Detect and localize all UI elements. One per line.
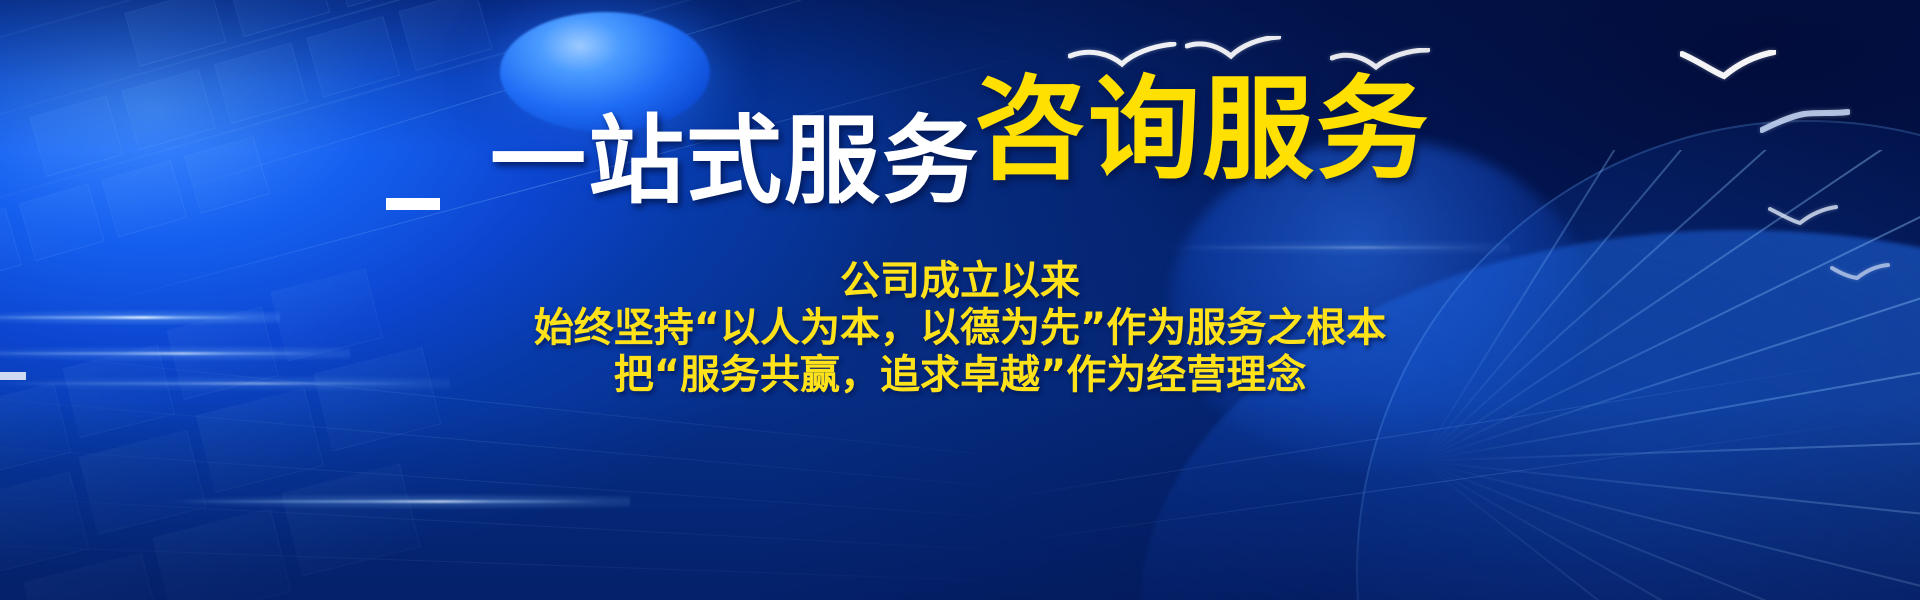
promo-banner: 一站式服务咨询服务 公司成立以来 始终坚持“以人为本，以德为先”作为服务之根本 … xyxy=(0,0,1920,600)
subtitle-line-2: 始终坚持“以人为本，以德为先”作为服务之根本 xyxy=(0,305,1920,352)
flying-bird-icon xyxy=(1768,205,1838,229)
headline-yellow-text: 咨询服务 xyxy=(974,65,1430,195)
subtitle-line-3: 把“服务共赢，追求卓越”作为经营理念 xyxy=(0,352,1920,399)
flying-bird-icon xyxy=(1185,36,1281,68)
headline: 一站式服务咨询服务 xyxy=(0,74,1920,186)
subtitle-line-1: 公司成立以来 xyxy=(0,258,1920,305)
headline-white-text: 一站式服务 xyxy=(490,105,980,217)
light-streak xyxy=(1180,246,1480,249)
subtitle-block: 公司成立以来 始终坚持“以人为本，以德为先”作为服务之根本 把“服务共赢，追求卓… xyxy=(0,258,1920,400)
light-streak xyxy=(180,500,600,503)
